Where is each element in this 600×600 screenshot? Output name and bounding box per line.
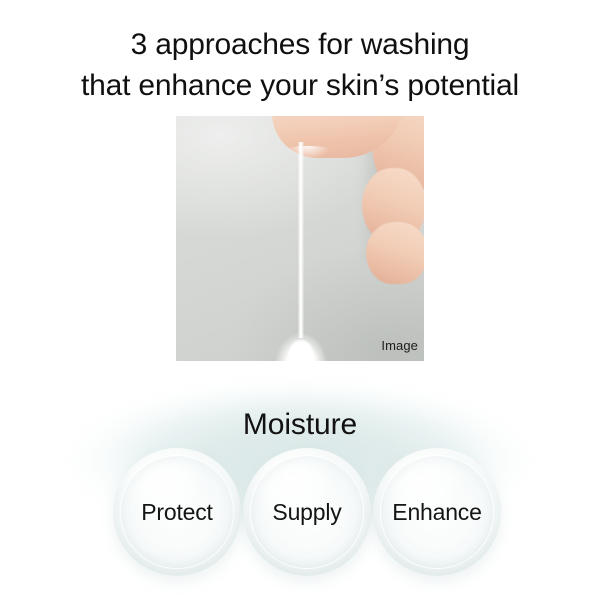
folded-finger-icon (366, 222, 424, 284)
product-photo: Image (176, 116, 424, 361)
moisture-label: Moisture (0, 405, 600, 445)
bubble-supply[interactable]: Supply (243, 448, 371, 576)
gel-pool (272, 322, 330, 361)
bubble-label-supply: Supply (243, 498, 371, 526)
title-line-1: 3 approaches for washing (0, 24, 600, 65)
page-title: 3 approaches for washing that enhance yo… (0, 24, 600, 106)
bubble-group: Protect Supply Enhance (0, 448, 600, 588)
bubble-label-protect: Protect (113, 498, 241, 526)
bubble-protect[interactable]: Protect (113, 448, 241, 576)
photo-caption: Image (381, 338, 418, 353)
title-line-2: that enhance your skin’s potential (0, 65, 600, 106)
bubble-label-enhance: Enhance (373, 498, 501, 526)
bubble-enhance[interactable]: Enhance (373, 448, 501, 576)
slide-canvas: 3 approaches for washing that enhance yo… (0, 0, 600, 600)
gel-strand (298, 142, 304, 338)
